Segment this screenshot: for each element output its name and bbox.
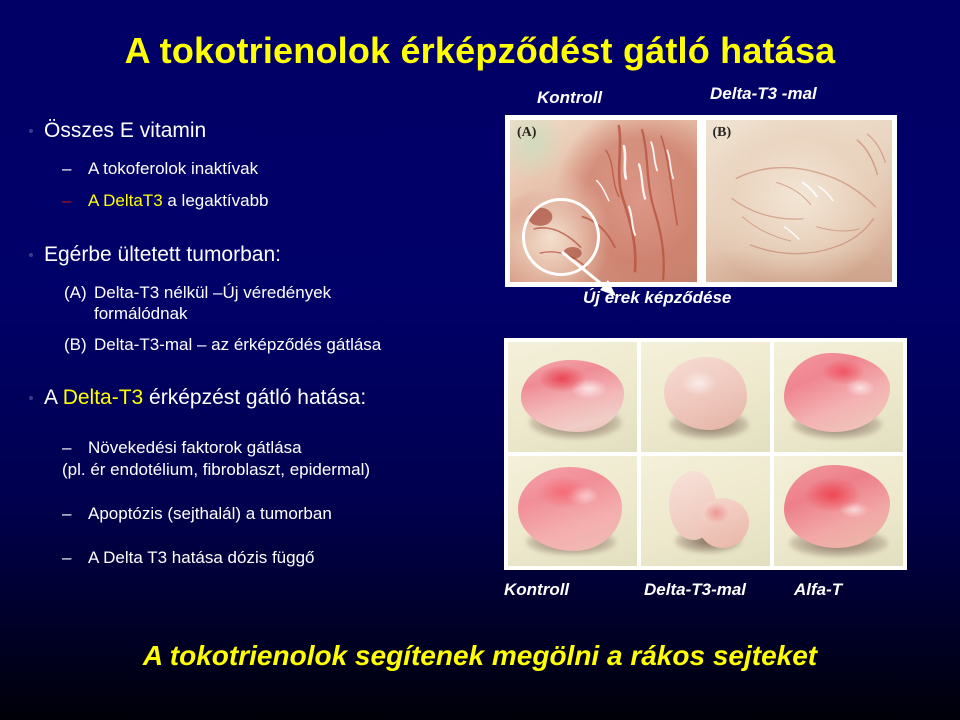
subbullet-label: A Delta T3 hatása dózis függő [88, 548, 315, 567]
panel-tag-a: (A) [517, 125, 536, 141]
item-marker-b: (B) [64, 334, 87, 355]
tissue-photo-deltat3: (B) [706, 120, 893, 282]
presentation-slide: A tokotrienolok érképződést gátló hatása… [0, 0, 960, 720]
subbullet-dozis-fuggo: – A Delta T3 hatása dózis függő [26, 547, 496, 569]
subbullet-note-endotelium: (pl. ér endotélium, fibroblaszt, epiderm… [26, 459, 496, 481]
annotation-circle-icon [522, 198, 600, 276]
figure-bottom-labels: Kontroll Delta-T3-mal Alfa-T [504, 580, 907, 606]
bullet-label: Egérbe ültetett tumorban: [44, 243, 281, 266]
figure-bottom-tumour-grid [504, 338, 907, 570]
spacer [26, 180, 496, 190]
subbullet-highlight: A DeltaT3 [88, 191, 163, 210]
subbullet-label: a legaktívabb [163, 191, 269, 210]
tumour-photo-alfat-2 [774, 456, 903, 566]
tissue-photo-control: (A) [510, 120, 697, 282]
bullet-egerbe-ultetett-tumorban: Egérbe ültetett tumorban: [26, 242, 496, 268]
subbullet-novekedesi-faktorok: – Növekedési faktorok gátlása [26, 437, 496, 459]
figure-top-tissue-photos: (A) ( [505, 115, 897, 287]
item-b-text: Delta-T3-mal – az érképződés gátlása [64, 334, 496, 355]
dash-icon: – [62, 503, 71, 525]
spacer [26, 355, 496, 385]
panel-tag-b: (B) [713, 125, 732, 141]
dash-icon: – [62, 547, 71, 569]
figure-top-label-deltat3: Delta-T3 -mal [710, 84, 817, 104]
tumour-photo-deltat3-2 [641, 456, 770, 566]
blood-vessels-overlay-icon [706, 120, 892, 282]
bullet-osszes-e-vitamin: Összes E vitamin [26, 118, 496, 144]
bullet-highlight: Delta-T3 [63, 386, 144, 409]
dash-icon: – [62, 158, 71, 180]
tumour-photo-control-1 [508, 342, 637, 452]
dash-icon-red: – [62, 190, 71, 212]
bullet-dot-icon [29, 253, 33, 257]
spacer [26, 324, 496, 334]
bullet-dot-icon [29, 396, 33, 400]
spacer [26, 212, 496, 242]
subbullet-label: Apoptózis (sejthalál) a tumorban [88, 504, 332, 523]
slide-title: A tokotrienolok érképződést gátló hatása [0, 30, 960, 72]
bullet-prefix: A [44, 386, 63, 409]
subbullet-label: A tokoferolok inaktívak [88, 159, 258, 178]
spacer [26, 525, 496, 547]
spacer [26, 148, 496, 158]
bullet-deltat3-erkepzes-gatlo: A Delta-T3 érképzést gátló hatása: [26, 385, 496, 411]
tumour-photo-alfat-1 [774, 342, 903, 452]
bullet-dot-icon [29, 129, 33, 133]
subbullet-apoptozis: – Apoptózis (sejthalál) a tumorban [26, 503, 496, 525]
spacer [26, 272, 496, 282]
tumour-photo-deltat3-1 [641, 342, 770, 452]
subbullet-tokoferolok: – A tokoferolok inaktívak [26, 158, 496, 180]
lettered-item-a: (A) Delta-T3 nélkül –Új véredények formá… [26, 282, 496, 324]
subbullet-label: Növekedési faktorok gátlása [88, 438, 302, 457]
item-a-line2: formálódnak [64, 303, 496, 324]
figure-bottom-label-deltat3: Delta-T3-mal [644, 580, 746, 600]
bullet-label: Összes E vitamin [44, 119, 206, 142]
item-marker-a: (A) [64, 282, 87, 303]
bullet-suffix: érképzést gátló hatása: [143, 386, 366, 409]
spacer [26, 415, 496, 437]
spacer [26, 481, 496, 503]
slide-footer: A tokotrienolok segítenek megölni a ráko… [0, 640, 960, 672]
tumour-photo-control-2 [508, 456, 637, 566]
figure-top-caption: Új erek képződése [583, 288, 731, 308]
lettered-item-b: (B) Delta-T3-mal – az érképződés gátlása [26, 334, 496, 355]
dash-icon: – [62, 437, 71, 459]
subbullet-deltat3-legaktivabb: – A DeltaT3 a legaktívabb [26, 190, 496, 212]
slide-body-text: Összes E vitamin – A tokoferolok inaktív… [26, 118, 496, 569]
figure-top-label-control: Kontroll [537, 88, 602, 108]
figure-bottom-label-alfat: Alfa-T [794, 580, 842, 600]
figure-top-labels: Kontroll Delta-T3 -mal [505, 88, 900, 114]
figure-bottom-label-control: Kontroll [504, 580, 569, 600]
item-a-line1: Delta-T3 nélkül –Új véredények [64, 282, 496, 303]
